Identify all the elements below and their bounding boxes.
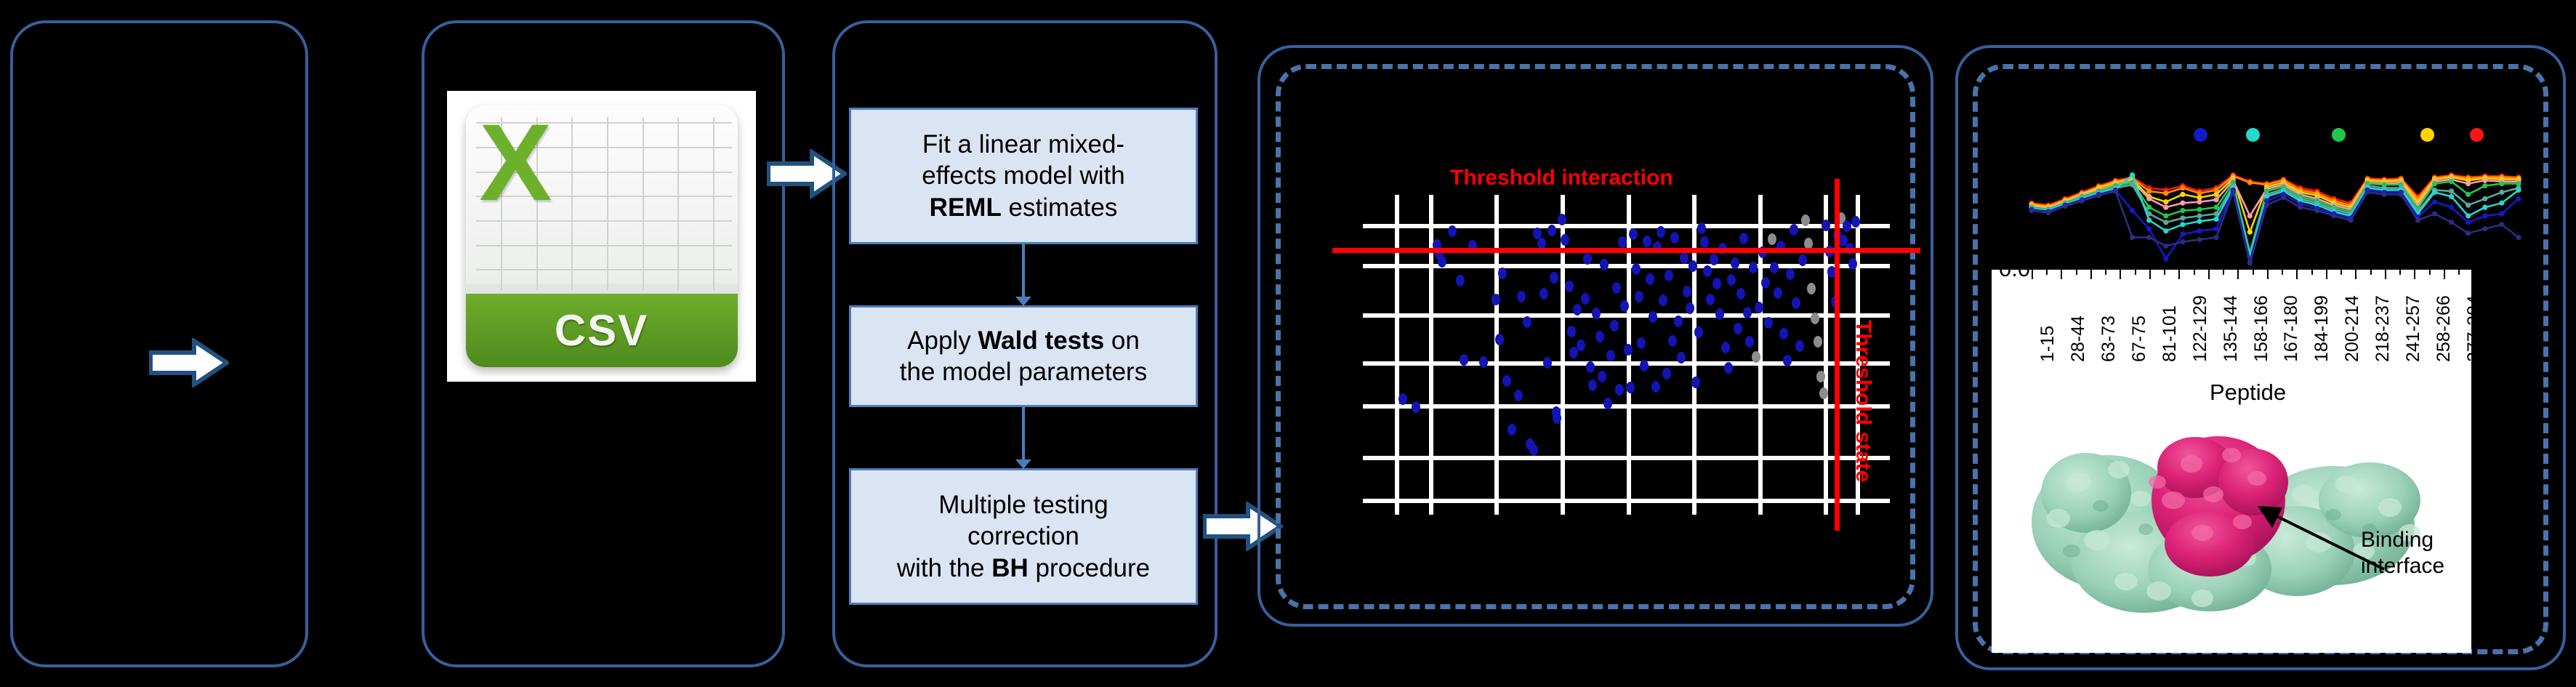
- scatter-point-significant: [1798, 254, 1807, 266]
- peptide-series-t8-navy: [2029, 188, 2521, 265]
- fit-model-l2: effects model with: [922, 161, 1125, 190]
- scatter-point-significant: [1456, 275, 1465, 286]
- peptide-series-svg: [2028, 156, 2522, 273]
- scatter-gridline-v: [1395, 195, 1399, 515]
- wald-l2: the model parameters: [900, 358, 1147, 386]
- scatter-point-significant: [1626, 382, 1635, 393]
- scatter-point-significant: [1543, 357, 1552, 369]
- scatter-point-significant: [1774, 287, 1782, 299]
- csv-format-label: CSV: [555, 305, 648, 355]
- scatter-point-significant: [1620, 300, 1629, 312]
- legend-dot-yellow: [2420, 128, 2434, 142]
- scatter-point-significant: [1514, 390, 1523, 401]
- peptide-tick-label: 63-73: [2098, 316, 2120, 362]
- scatter-point-significant: [1550, 272, 1558, 284]
- scatter-point-significant: [1610, 320, 1619, 332]
- scatter-point-significant: [1651, 381, 1660, 393]
- scatter-point-significant: [1637, 337, 1646, 349]
- legend-dot-cyan: [2246, 128, 2260, 142]
- scatter-point-significant: [1592, 308, 1601, 319]
- wald-l1c: on: [1104, 326, 1140, 355]
- peptide-axis-tick: [2444, 268, 2445, 279]
- peptide-tick-label: 277-284: [2464, 295, 2471, 362]
- scatter-point-significant: [1603, 398, 1612, 409]
- mt-l3c: procedure: [1029, 554, 1150, 582]
- peptide-axis-tick: [2282, 268, 2283, 275]
- peptide-axis-tick: [2135, 268, 2136, 275]
- peptide-series-t7-blue: [2029, 188, 2521, 264]
- scatter-point-nonsignificant: [1816, 371, 1825, 382]
- scatter-point-significant: [1629, 228, 1638, 240]
- scatter-point-significant: [1646, 273, 1654, 285]
- csv-file-card: X CSV: [447, 91, 756, 382]
- peptide-axis-tick: [2120, 268, 2121, 279]
- scatter-point-significant: [1448, 225, 1457, 237]
- fit-model-l1: Fit a linear mixed-: [922, 130, 1124, 158]
- peptide-axis-tick: [2061, 268, 2062, 279]
- scatter-point-significant: [1588, 379, 1597, 391]
- peptide-axis-tick: [2267, 268, 2269, 279]
- scatter-gridline-v: [1692, 195, 1696, 515]
- connector-1: [1022, 244, 1025, 300]
- peptide-tick-label: 135-144: [2221, 295, 2242, 362]
- peptide-axis-tick: [2149, 268, 2151, 279]
- excel-x-letter: X: [479, 111, 588, 246]
- scatter-point-significant: [1724, 362, 1733, 374]
- threshold-state-label: Threshold state: [1851, 320, 1875, 482]
- scatter-point-significant: [1697, 222, 1706, 234]
- scatter-point-significant: [1508, 424, 1516, 435]
- peptide-axis-tick: [2326, 268, 2327, 279]
- scatter-point-significant: [1640, 360, 1649, 371]
- scatter-point-significant: [1674, 316, 1683, 327]
- legend-dot-blue: [2194, 128, 2207, 142]
- peptide-x-axis-label: Peptide: [2210, 379, 2286, 406]
- scatter-point-significant: [1479, 356, 1488, 368]
- scatter-point-significant: [1539, 288, 1548, 300]
- wald-test-step: Apply Wald tests on the model parameters: [849, 305, 1198, 407]
- binding-interface-line2: interface: [2361, 553, 2444, 579]
- fit-model-step-text: Fit a linear mixed- effects model with R…: [922, 129, 1125, 223]
- scatter-point-nonsignificant: [1811, 313, 1819, 324]
- peptide-axis-tick: [2208, 268, 2210, 279]
- peptide-axis-tick: [2076, 268, 2077, 275]
- scatter-point-significant: [1632, 263, 1641, 275]
- peptide-axis-tick: [2340, 268, 2342, 275]
- scatter-point-significant: [1795, 340, 1804, 352]
- peptide-tick-label: 241-257: [2403, 295, 2424, 362]
- fit-model-l3b: estimates: [1002, 193, 1118, 222]
- multiple-testing-step: Multiple testing correction with the BH …: [849, 468, 1198, 605]
- peptide-axis-tick: [2296, 268, 2298, 279]
- peptide-axis-tick: [2178, 268, 2180, 279]
- peptide-axis-tick: [2194, 268, 2195, 275]
- scatter-point-significant: [1649, 311, 1657, 323]
- volcano-scatter-plot: [1363, 195, 1890, 515]
- scatter-point-significant: [1517, 291, 1526, 302]
- scatter-point-significant: [1523, 316, 1531, 328]
- scatter-point-significant: [1670, 232, 1679, 244]
- wald-test-step-text: Apply Wald tests on the model parameters: [900, 325, 1147, 388]
- legend-dot-green: [2332, 128, 2346, 142]
- scatter-point-significant: [1710, 254, 1718, 265]
- scatter-point-significant: [1712, 278, 1721, 289]
- peptide-tick-label: 1-15: [2037, 326, 2058, 362]
- scatter-gridline-v: [1824, 195, 1828, 515]
- scatter-point-nonsignificant: [1807, 283, 1816, 294]
- scatter-point-significant: [1618, 236, 1627, 248]
- mt-l2: correction: [967, 522, 1079, 550]
- scatter-gridline-v: [1494, 195, 1499, 515]
- mt-l3b: BH: [991, 554, 1029, 582]
- peptide-tick-label: 200-214: [2342, 295, 2363, 362]
- scatter-point-significant: [1624, 344, 1633, 355]
- scatter-point-significant: [1595, 331, 1604, 342]
- peptide-axis-tick: [2385, 268, 2386, 279]
- scatter-point-significant: [1577, 340, 1585, 351]
- scatter-point-significant: [1792, 297, 1800, 309]
- peptide-axis-tick: [2355, 268, 2356, 279]
- fit-model-step: Fit a linear mixed- effects model with R…: [849, 108, 1198, 244]
- scatter-point-significant: [1547, 225, 1556, 236]
- scatter-point-significant: [1749, 262, 1758, 273]
- scatter-point-significant: [1721, 342, 1730, 353]
- scatter-point-significant: [1743, 307, 1752, 318]
- peptide-axis-tick: [2311, 268, 2313, 275]
- fit-model-l3a: REML: [930, 193, 1002, 222]
- scatter-point-significant: [1843, 220, 1851, 232]
- peptide-axis-tick: [2458, 268, 2460, 275]
- scatter-point-significant: [1668, 335, 1677, 347]
- scatter-point-significant: [1600, 259, 1609, 270]
- scatter-point-significant: [1851, 216, 1860, 228]
- peptide-axis-tick: [2090, 268, 2092, 279]
- scatter-gridline-h: [1363, 456, 1890, 460]
- scatter-point-significant: [1691, 377, 1700, 388]
- scatter-point-significant: [1662, 368, 1671, 379]
- peptide-axis-tick: [2032, 268, 2033, 279]
- peptide-axis-tick: [2164, 268, 2165, 275]
- multiple-testing-step-text: Multiple testing correction with the BH …: [897, 489, 1150, 584]
- mt-l3a: with the: [897, 554, 991, 582]
- scatter-point-significant: [1635, 291, 1643, 302]
- peptide-axis-tick: [2237, 268, 2239, 279]
- scatter-gridline-h: [1363, 361, 1890, 366]
- peptide-tick-label: 258-266: [2434, 295, 2455, 362]
- csv-format-band: CSV: [466, 294, 738, 367]
- csv-file-icon: X CSV: [466, 105, 738, 367]
- scatter-point-significant: [1694, 326, 1703, 338]
- scatter-point-significant: [1659, 294, 1667, 306]
- scatter-point-significant: [1739, 233, 1748, 244]
- peptide-axis-tick: [2370, 268, 2372, 275]
- wald-l1b: Wald tests: [978, 326, 1104, 355]
- scatter-gridline-h: [1363, 499, 1890, 503]
- scatter-point-significant: [1703, 265, 1712, 277]
- binding-interface-label: Binding interface: [2361, 527, 2444, 579]
- peptide-axis-tick: [2429, 268, 2431, 275]
- scatter-gridline-h: [1363, 404, 1890, 409]
- scatter-point-significant: [1734, 323, 1742, 334]
- peptide-tick-label: 122-129: [2190, 295, 2211, 362]
- peptide-tick-label: 81-101: [2160, 305, 2181, 362]
- scatter-point-significant: [1643, 236, 1651, 247]
- scatter-point-significant: [1745, 336, 1754, 347]
- scatter-point-significant: [1764, 317, 1773, 329]
- wald-l1a: Apply: [907, 326, 978, 355]
- scatter-point-significant: [1412, 401, 1420, 413]
- arrow-into-input: [149, 338, 229, 387]
- scatter-point-significant: [1598, 371, 1606, 382]
- scatter-point-significant: [1770, 262, 1779, 273]
- scatter-point-nonsignificant: [1819, 387, 1828, 399]
- peptide-axis-tick: [2253, 268, 2254, 275]
- scatter-point-significant: [1665, 270, 1673, 281]
- threshold-interaction-label: Threshold interaction: [1450, 166, 1673, 190]
- peptide-tick-label: 184-199: [2311, 295, 2333, 362]
- scatter-point-significant: [1848, 258, 1857, 270]
- connector-2: [1022, 407, 1025, 462]
- scatter-point-significant: [1715, 308, 1724, 320]
- scatter-point-significant: [1561, 234, 1569, 246]
- peptide-axis-tick: [2399, 268, 2401, 275]
- peptide-tick-label: 218-237: [2372, 295, 2394, 362]
- threshold-interaction-line: [1332, 248, 1920, 253]
- peptide-line-chart: [2028, 156, 2522, 273]
- scatter-point-significant: [1706, 294, 1715, 305]
- scatter-point-significant: [1498, 268, 1507, 279]
- peptide-axis-tick: [2046, 268, 2048, 275]
- scatter-point-significant: [1761, 277, 1770, 289]
- peptide-tick-label: 28-44: [2068, 316, 2089, 362]
- scatter-point-significant: [1790, 224, 1798, 236]
- scatter-point-significant: [1700, 236, 1709, 248]
- arrow-right-icon: [149, 338, 229, 387]
- peptide-tick-label: 67-75: [2129, 316, 2150, 362]
- peptide-axis-tick: [2414, 268, 2415, 279]
- scatter-point-significant: [1502, 375, 1511, 387]
- scatter-point-significant: [1606, 350, 1615, 361]
- scatter-point-significant: [1529, 444, 1538, 456]
- scatter-point-significant: [1615, 384, 1624, 395]
- legend-dot-red: [2470, 128, 2484, 142]
- scatter-point-significant: [1657, 226, 1665, 238]
- scatter-point-significant: [1567, 326, 1576, 337]
- scatter-point-significant: [1686, 302, 1694, 314]
- scatter-point-significant: [1736, 288, 1745, 300]
- threshold-state-line: [1835, 179, 1840, 531]
- scatter-point-significant: [1438, 256, 1446, 268]
- peptide-y-tick-label: 0.0: [1999, 256, 2030, 282]
- scatter-point-significant: [1786, 268, 1795, 280]
- scatter-gridline-h: [1363, 224, 1890, 228]
- binding-interface-line1: Binding: [2361, 527, 2444, 553]
- scatter-point-significant: [1727, 274, 1736, 286]
- peptide-tick-label: 158-166: [2251, 295, 2272, 362]
- scatter-point-significant: [1565, 281, 1574, 292]
- scatter-point-significant: [1779, 328, 1788, 340]
- scatter-point-nonsignificant: [1768, 233, 1776, 245]
- peptide-axis-tick: [2105, 268, 2106, 275]
- scatter-point-significant: [1680, 252, 1689, 264]
- scatter-point-significant: [1612, 282, 1621, 294]
- scatter-point-nonsignificant: [1814, 336, 1822, 347]
- peptide-axis-tick: [2223, 268, 2224, 275]
- scatter-point-significant: [1822, 220, 1830, 231]
- scatter-point-significant: [1583, 253, 1592, 265]
- scatter-point-significant: [1581, 293, 1590, 305]
- scatter-point-significant: [1586, 361, 1595, 373]
- scatter-point-significant: [1398, 393, 1407, 405]
- scatter-point-significant: [1495, 334, 1504, 345]
- scatter-point-significant: [1683, 286, 1691, 297]
- peptide-tick-label: 167-180: [2281, 295, 2302, 362]
- mt-l1: Multiple testing: [938, 491, 1108, 519]
